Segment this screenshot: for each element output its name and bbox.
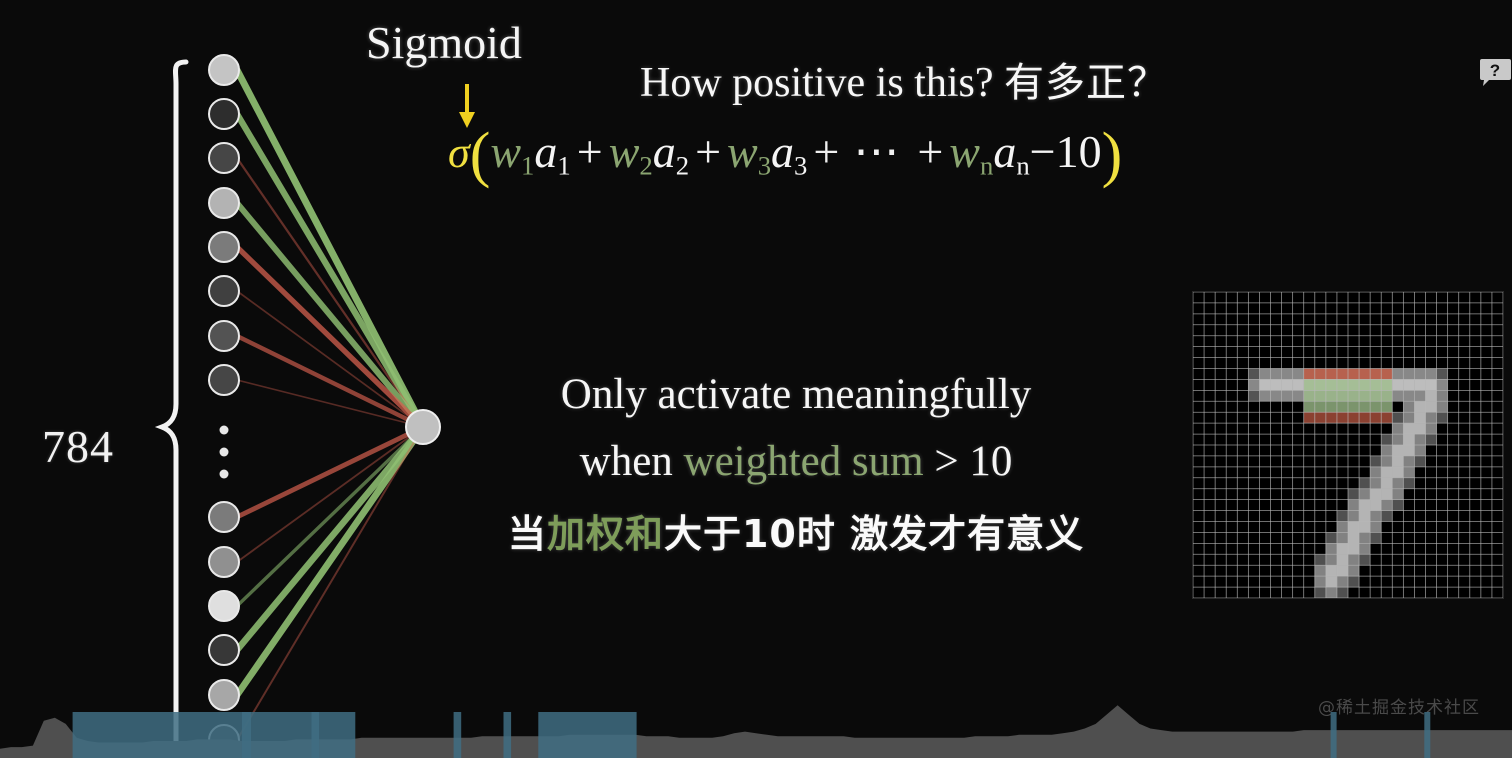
- mnist-pixel: [1481, 303, 1492, 314]
- mnist-pixel: [1392, 576, 1403, 587]
- mnist-pixel: [1193, 434, 1204, 445]
- activation-term-1: a: [534, 126, 557, 177]
- mnist-pixel: [1392, 423, 1403, 434]
- input-neuron-2[interactable]: [209, 99, 239, 129]
- mnist-pixel: [1392, 379, 1403, 390]
- mnist-pixel: [1248, 336, 1259, 347]
- mnist-pixel: [1271, 445, 1282, 456]
- mnist-pixel: [1392, 347, 1403, 358]
- mnist-pixel: [1315, 325, 1326, 336]
- mnist-pixel: [1282, 390, 1293, 401]
- mnist-pixel: [1359, 336, 1370, 347]
- mnist-pixel: [1348, 314, 1359, 325]
- mnist-pixel: [1381, 489, 1392, 500]
- mnist-pixel: [1304, 565, 1315, 576]
- output-neuron-layer: [406, 410, 440, 444]
- mnist-pixel: [1470, 358, 1481, 369]
- input-neuron-4[interactable]: [209, 188, 239, 218]
- mnist-pixel: [1304, 467, 1315, 478]
- mnist-pixel: [1337, 511, 1348, 522]
- mnist-pixel: [1193, 565, 1204, 576]
- mnist-pixel: [1370, 336, 1381, 347]
- mnist-pixel: [1293, 434, 1304, 445]
- mnist-pixel: [1293, 445, 1304, 456]
- mnist-pixel: [1248, 543, 1259, 554]
- mnist-pixel: [1248, 292, 1259, 303]
- mnist-pixel: [1282, 369, 1293, 380]
- mnist-pixel: [1204, 379, 1215, 390]
- mnist-pixel: [1248, 554, 1259, 565]
- mnist-pixel: [1359, 511, 1370, 522]
- mnist-pixel: [1204, 423, 1215, 434]
- mnist-pixel: [1426, 467, 1437, 478]
- mnist-pixel: [1470, 467, 1481, 478]
- mnist-pixel: [1392, 369, 1403, 380]
- mnist-pixel: [1326, 565, 1337, 576]
- mnist-pixel: [1204, 303, 1215, 314]
- slide-canvas: 784 Sigmoid How positive is this? 有多正？ σ…: [0, 0, 1512, 758]
- mnist-pixel: [1259, 467, 1270, 478]
- mnist-pixel: [1193, 511, 1204, 522]
- mnist-pixel: [1204, 543, 1215, 554]
- input-neuron-10[interactable]: [209, 547, 239, 577]
- mnist-pixel: [1470, 554, 1481, 565]
- headline-english: How positive is this?: [640, 60, 994, 106]
- mnist-pixel: [1470, 522, 1481, 533]
- mnist-pixel: [1326, 347, 1337, 358]
- plus-3: +: [807, 126, 845, 177]
- mnist-pixel: [1237, 445, 1248, 456]
- input-neuron-11[interactable]: [209, 591, 239, 621]
- mnist-pixel: [1215, 434, 1226, 445]
- mnist-pixel: [1315, 358, 1326, 369]
- mnist-pixel: [1226, 543, 1237, 554]
- waveform-accent-segment[interactable]: [454, 712, 462, 758]
- mnist-pixel: [1481, 489, 1492, 500]
- mnist-pixel: [1237, 522, 1248, 533]
- mnist-pixel: [1237, 303, 1248, 314]
- mnist-pixel: [1348, 565, 1359, 576]
- mnist-pixel: [1403, 587, 1414, 598]
- mnist-pixel: [1426, 500, 1437, 511]
- mnist-pixel: [1481, 543, 1492, 554]
- mnist-pixel: [1492, 325, 1503, 336]
- mnist-pixel: [1459, 478, 1470, 489]
- mnist-pixel: [1315, 532, 1326, 543]
- mnist-pixel: [1437, 522, 1448, 533]
- mnist-pixel: [1215, 347, 1226, 358]
- headline-chinese: 有多正？: [1004, 60, 1168, 106]
- mnist-pixel: [1448, 500, 1459, 511]
- mnist-pixel: [1215, 358, 1226, 369]
- mnist-pixel: [1492, 434, 1503, 445]
- mnist-pixel: [1381, 456, 1392, 467]
- waveform-accent-segment[interactable]: [1424, 712, 1430, 758]
- mnist-pixel: [1414, 522, 1425, 533]
- mnist-pixel: [1370, 467, 1381, 478]
- mnist-pixel: [1381, 543, 1392, 554]
- mnist-pixel: [1381, 478, 1392, 489]
- mnist-pixel: [1215, 478, 1226, 489]
- mnist-pixel: [1348, 336, 1359, 347]
- statement-line-2-prefix: when: [580, 438, 684, 485]
- mnist-pixel: [1271, 358, 1282, 369]
- mnist-pixel: [1326, 522, 1337, 533]
- input-neuron-12[interactable]: [209, 635, 239, 665]
- input-neuron-1[interactable]: [209, 55, 239, 85]
- mnist-pixel: [1470, 347, 1481, 358]
- mnist-pixel: [1381, 325, 1392, 336]
- mnist-pixel: [1459, 292, 1470, 303]
- mnist-pixel: [1271, 314, 1282, 325]
- mnist-pixel: [1337, 478, 1348, 489]
- mnist-pixel: [1226, 456, 1237, 467]
- mnist-pixel: [1293, 565, 1304, 576]
- mnist-pixel: [1381, 423, 1392, 434]
- mnist-pixel: [1459, 303, 1470, 314]
- mnist-pixel: [1348, 532, 1359, 543]
- input-neuron-6[interactable]: [209, 276, 239, 306]
- mnist-pixel: [1481, 445, 1492, 456]
- mnist-pixel: [1337, 358, 1348, 369]
- waveform-accent-segment[interactable]: [312, 712, 320, 758]
- mnist-pixel: [1348, 543, 1359, 554]
- mnist-pixel: [1348, 456, 1359, 467]
- mnist-pixel: [1470, 379, 1481, 390]
- mnist-pixel: [1392, 303, 1403, 314]
- mnist-pixel: [1437, 336, 1448, 347]
- mnist-pixel: [1370, 543, 1381, 554]
- mnist-pixel: [1392, 412, 1403, 423]
- mnist-pixel: [1237, 500, 1248, 511]
- mnist-pixel: [1326, 434, 1337, 445]
- output-neuron[interactable]: [406, 410, 440, 444]
- mnist-pixel: [1293, 456, 1304, 467]
- waveform-accent-segment[interactable]: [538, 712, 636, 758]
- mnist-pixel: [1271, 478, 1282, 489]
- mnist-pixel: [1304, 325, 1315, 336]
- mnist-pixel: [1414, 369, 1425, 380]
- mnist-pixel: [1437, 587, 1448, 598]
- mnist-pixel: [1193, 423, 1204, 434]
- mnist-pixel: [1248, 565, 1259, 576]
- mnist-pixel: [1248, 576, 1259, 587]
- mnist-pixel: [1237, 576, 1248, 587]
- mnist-pixel: [1437, 347, 1448, 358]
- mnist-pixel: [1448, 478, 1459, 489]
- mnist-pixel: [1304, 347, 1315, 358]
- mnist-pixel: [1282, 336, 1293, 347]
- mnist-pixel: [1326, 423, 1337, 434]
- connection-13-positive: [237, 427, 423, 695]
- mnist-pixel: [1304, 314, 1315, 325]
- mnist-pixel: [1470, 587, 1481, 598]
- help-icon[interactable]: ?: [1479, 57, 1512, 87]
- mnist-pixel: [1459, 314, 1470, 325]
- mnist-pixel: [1282, 467, 1293, 478]
- mnist-pixel: [1204, 358, 1215, 369]
- input-neuron-3[interactable]: [209, 143, 239, 173]
- mnist-pixel: [1426, 401, 1437, 412]
- mnist-pixel: [1282, 478, 1293, 489]
- mnist-pixel: [1470, 456, 1481, 467]
- mnist-pixel: [1193, 543, 1204, 554]
- mnist-pixel: [1304, 543, 1315, 554]
- mnist-pixel: [1259, 423, 1270, 434]
- mnist-pixel: [1237, 369, 1248, 380]
- plus-4: +: [911, 126, 949, 177]
- waveform-accent-segment[interactable]: [242, 712, 251, 758]
- mnist-pixel: [1337, 576, 1348, 587]
- activation-term-2: a: [653, 126, 676, 177]
- input-neuron-5[interactable]: [209, 232, 239, 262]
- mnist-pixel: [1426, 445, 1437, 456]
- mnist-pixel: [1437, 576, 1448, 587]
- mnist-pixel: [1492, 358, 1503, 369]
- mnist-pixel: [1282, 576, 1293, 587]
- mnist-pixel: [1271, 511, 1282, 522]
- mnist-pixel: [1304, 489, 1315, 500]
- mnist-pixel: [1237, 325, 1248, 336]
- mnist-pixel: [1481, 500, 1492, 511]
- mnist-pixel: [1359, 478, 1370, 489]
- mnist-pixel: [1237, 336, 1248, 347]
- mnist-pixel: [1359, 467, 1370, 478]
- mnist-pixel: [1437, 532, 1448, 543]
- mnist-pixel: [1326, 292, 1337, 303]
- mnist-pixel: [1470, 390, 1481, 401]
- mnist-pixel: [1193, 467, 1204, 478]
- mnist-pixel: [1381, 500, 1392, 511]
- mnist-pixel: [1271, 401, 1282, 412]
- mnist-pixel: [1470, 314, 1481, 325]
- input-neuron-9[interactable]: [209, 502, 239, 532]
- mnist-pixel: [1448, 325, 1459, 336]
- mnist-pixel: [1271, 347, 1282, 358]
- mnist-pixel: [1448, 522, 1459, 533]
- mnist-pixel: [1370, 532, 1381, 543]
- mnist-pixel: [1282, 565, 1293, 576]
- mnist-pixel: [1337, 314, 1348, 325]
- mnist-pixel: [1248, 532, 1259, 543]
- mnist-pixel: [1381, 554, 1392, 565]
- mnist-pixel: [1237, 489, 1248, 500]
- mnist-pixel: [1248, 314, 1259, 325]
- mnist-pixel: [1359, 325, 1370, 336]
- mnist-pixel: [1370, 576, 1381, 587]
- mnist-pixel: [1226, 565, 1237, 576]
- mnist-pixel: [1414, 445, 1425, 456]
- mnist-pixel: [1414, 347, 1425, 358]
- mnist-pixel: [1226, 467, 1237, 478]
- mnist-pixel: [1481, 423, 1492, 434]
- mnist-pixel: [1226, 336, 1237, 347]
- mnist-pixel: [1348, 292, 1359, 303]
- mnist-pixel: [1492, 489, 1503, 500]
- mnist-pixel: [1414, 554, 1425, 565]
- mnist-pixel: [1470, 543, 1481, 554]
- mnist-pixel: [1370, 314, 1381, 325]
- activation-term-3: a: [771, 126, 794, 177]
- mnist-pixel: [1259, 325, 1270, 336]
- weight-sub-n: n: [980, 150, 993, 180]
- mnist-pixel: [1348, 478, 1359, 489]
- mnist-pixel: [1259, 412, 1270, 423]
- mnist-pixel: [1470, 292, 1481, 303]
- mnist-pixel: [1193, 292, 1204, 303]
- mnist-pixel: [1259, 478, 1270, 489]
- mnist-pixel: [1293, 358, 1304, 369]
- mnist-pixel: [1237, 456, 1248, 467]
- statement-block: Only activate meaningfully when weighted…: [466, 362, 1126, 558]
- mnist-pixel: [1370, 587, 1381, 598]
- mnist-pixel: [1470, 532, 1481, 543]
- mnist-pixel: [1315, 543, 1326, 554]
- formula-ellipsis: ⋯: [845, 126, 911, 177]
- mnist-pixel: [1237, 554, 1248, 565]
- mnist-pixel: [1426, 379, 1437, 390]
- mnist-pixel: [1204, 445, 1215, 456]
- mnist-pixel: [1470, 412, 1481, 423]
- mnist-pixel: [1414, 336, 1425, 347]
- mnist-pixel: [1403, 336, 1414, 347]
- mnist-pixel: [1492, 412, 1503, 423]
- mnist-pixel: [1403, 412, 1414, 423]
- mnist-pixel: [1414, 467, 1425, 478]
- mnist-pixel: [1414, 478, 1425, 489]
- mnist-pixel: [1193, 379, 1204, 390]
- mnist-pixel: [1359, 532, 1370, 543]
- mnist-pixel: [1403, 565, 1414, 576]
- mnist-pixel: [1337, 445, 1348, 456]
- mnist-pixel: [1204, 500, 1215, 511]
- mnist-pixel: [1403, 456, 1414, 467]
- mnist-pixel: [1237, 292, 1248, 303]
- mnist-pixel: [1204, 347, 1215, 358]
- mnist-pixel: [1381, 434, 1392, 445]
- mnist-pixel: [1381, 445, 1392, 456]
- statement-line-2-highlight: weighted sum: [684, 438, 924, 485]
- mnist-pixel: [1459, 336, 1470, 347]
- mnist-pixel: [1204, 511, 1215, 522]
- mnist-pixel: [1293, 532, 1304, 543]
- mnist-pixel: [1326, 576, 1337, 587]
- mnist-pixel: [1459, 500, 1470, 511]
- mnist-pixel: [1204, 369, 1215, 380]
- mnist-pixel: [1337, 522, 1348, 533]
- mnist-pixel: [1426, 325, 1437, 336]
- mnist-pixel: [1470, 303, 1481, 314]
- mnist-pixel: [1381, 292, 1392, 303]
- mnist-pixel: [1215, 500, 1226, 511]
- mnist-pixel: [1426, 489, 1437, 500]
- mnist-pixel: [1414, 511, 1425, 522]
- mnist-pixel: [1348, 522, 1359, 533]
- mnist-pixel: [1359, 576, 1370, 587]
- activation-sub-1: 1: [557, 150, 570, 180]
- mnist-pixel: [1392, 554, 1403, 565]
- mnist-pixel: [1359, 445, 1370, 456]
- mnist-pixel: [1204, 314, 1215, 325]
- mnist-pixel: [1259, 303, 1270, 314]
- mnist-pixel: [1392, 543, 1403, 554]
- waveform-accent-segment[interactable]: [504, 712, 512, 758]
- mnist-pixel: [1459, 565, 1470, 576]
- mnist-pixel: [1215, 522, 1226, 533]
- mnist-pixel: [1370, 292, 1381, 303]
- statement-line-2-suffix: > 10: [924, 438, 1013, 485]
- mnist-pixel: [1348, 467, 1359, 478]
- mnist-pixel: [1326, 500, 1337, 511]
- mnist-pixel: [1293, 467, 1304, 478]
- mnist-pixel: [1481, 478, 1492, 489]
- mnist-pixel: [1481, 379, 1492, 390]
- mnist-pixel: [1226, 522, 1237, 533]
- mnist-pixel: [1248, 390, 1259, 401]
- mnist-pixel: [1204, 292, 1215, 303]
- waveform-accent-segment[interactable]: [1331, 712, 1337, 758]
- mnist-pixel: [1370, 423, 1381, 434]
- mnist-pixel: [1459, 554, 1470, 565]
- mnist-pixel: [1392, 587, 1403, 598]
- mnist-pixel: [1370, 565, 1381, 576]
- mnist-pixel: [1392, 401, 1403, 412]
- mnist-pixel: [1193, 587, 1204, 598]
- mnist-pixel: [1293, 369, 1304, 380]
- mnist-pixel: [1259, 456, 1270, 467]
- mnist-pixel: [1226, 576, 1237, 587]
- plus-1: +: [571, 126, 609, 177]
- mnist-pixel: [1437, 478, 1448, 489]
- mnist-pixel: [1193, 314, 1204, 325]
- mnist-pixel: [1237, 478, 1248, 489]
- mnist-pixel: [1381, 314, 1392, 325]
- mnist-pixel: [1326, 456, 1337, 467]
- input-neuron-8[interactable]: [209, 365, 239, 395]
- mnist-pixel: [1437, 543, 1448, 554]
- mnist-pixel: [1193, 445, 1204, 456]
- mnist-pixel: [1259, 369, 1270, 380]
- mnist-pixel: [1248, 358, 1259, 369]
- mnist-pixel: [1403, 401, 1414, 412]
- mnist-pixel: [1437, 511, 1448, 522]
- mnist-pixel: [1370, 500, 1381, 511]
- plus-2: +: [689, 126, 727, 177]
- mnist-pixel: [1426, 565, 1437, 576]
- mnist-pixel: [1459, 412, 1470, 423]
- mnist-pixel: [1403, 347, 1414, 358]
- mnist-pixel: [1248, 423, 1259, 434]
- mnist-pixel: [1248, 412, 1259, 423]
- mnist-pixel: [1348, 434, 1359, 445]
- audio-waveform-scrubber[interactable]: [0, 690, 1512, 758]
- connection-11-positive: [237, 427, 423, 606]
- weight-sub-1: 1: [521, 150, 534, 180]
- mnist-pixel: [1426, 511, 1437, 522]
- input-neuron-7[interactable]: [209, 321, 239, 351]
- mnist-pixel: [1392, 292, 1403, 303]
- mnist-pixel: [1492, 303, 1503, 314]
- mnist-pixel: [1470, 576, 1481, 587]
- mnist-pixel: [1293, 325, 1304, 336]
- mnist-pixel: [1315, 434, 1326, 445]
- mnist-pixel: [1259, 434, 1270, 445]
- mnist-pixel: [1271, 292, 1282, 303]
- mnist-pixel: [1248, 489, 1259, 500]
- mnist-pixel: [1370, 445, 1381, 456]
- mnist-pixel: [1381, 303, 1392, 314]
- mnist-pixel: [1248, 522, 1259, 533]
